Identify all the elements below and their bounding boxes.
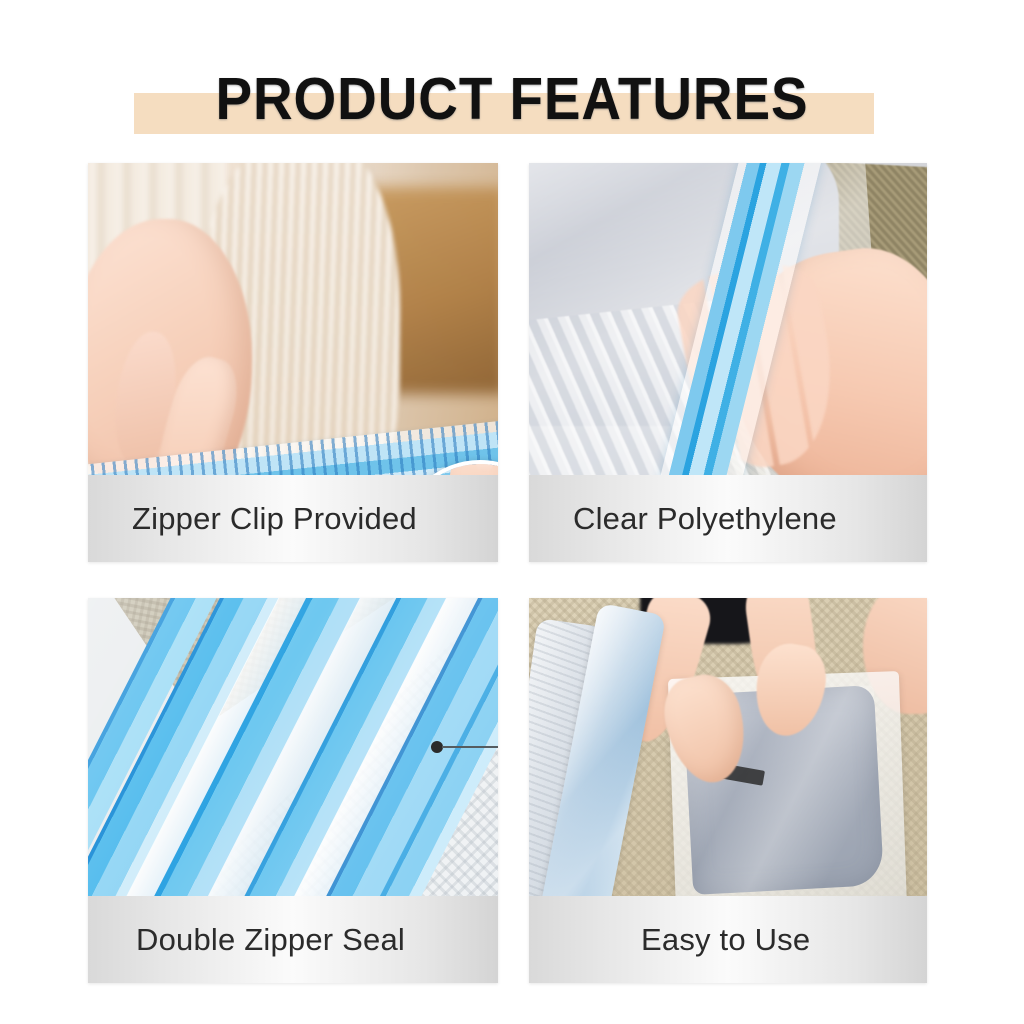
annotation-leader-line xyxy=(442,746,498,748)
caption-text: Double Zipper Seal xyxy=(88,922,405,958)
feature-card-double-zipper-seal[interactable]: Double Zipper Seal xyxy=(88,598,498,983)
feature-card-zipper-clip-provided[interactable]: Zipper Clip Provided xyxy=(88,163,498,562)
caption-band-double-zipper-seal: Double Zipper Seal xyxy=(88,896,498,983)
page-title: PRODUCT FEATURES xyxy=(36,64,988,134)
header: PRODUCT FEATURES xyxy=(0,0,1024,160)
caption-band-easy-to-use: Easy to Use xyxy=(529,896,927,983)
caption-text: Easy to Use xyxy=(529,922,810,958)
product-features-infographic: PRODUCT FEATURES xyxy=(0,0,1024,1024)
caption-band-clear-polyethylene: Clear Polyethylene xyxy=(529,475,927,562)
feature-card-easy-to-use[interactable]: Easy to Use xyxy=(529,598,927,983)
feature-card-clear-polyethylene[interactable]: Clear Polyethylene xyxy=(529,163,927,562)
caption-text: Zipper Clip Provided xyxy=(88,501,417,537)
caption-text: Clear Polyethylene xyxy=(529,501,837,537)
inset-fingernail xyxy=(476,460,492,472)
caption-band-zipper-clip-provided: Zipper Clip Provided xyxy=(88,475,498,562)
